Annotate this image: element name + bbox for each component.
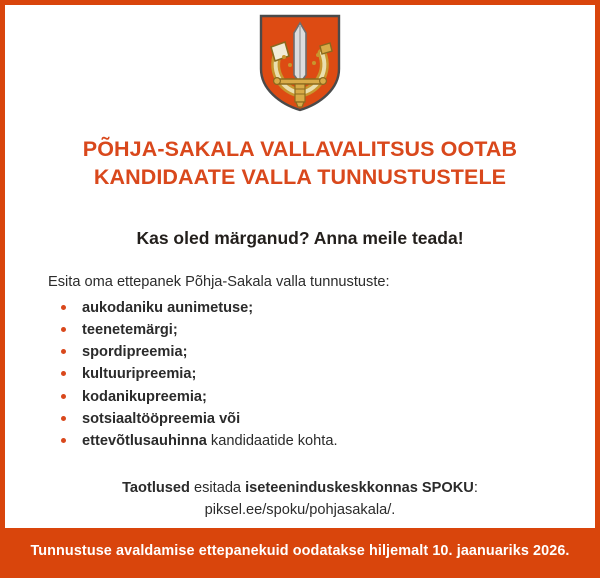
list-item: spordipreemia; (48, 341, 565, 363)
list-item-label: kodanikupreemia; (82, 389, 207, 405)
deadline-footer: Tunnustuse avaldamise ettepanekuid oodat… (5, 528, 595, 573)
list-item-label: ettevõtlusauhinna (82, 433, 207, 449)
list-item-label: sotsiaaltööpreemia või (82, 411, 240, 427)
subtitle: Kas oled märganud? Anna meile teada! (136, 228, 463, 249)
poster-content: PÕHJA-SAKALA VALLAVALITSUS OOTAB KANDIDA… (5, 5, 595, 528)
page-title-line-2: KANDIDAATE VALLA TUNNUSTUSTELE (83, 163, 517, 191)
list-item-label: kultuuripreemia; (82, 366, 196, 382)
page-title: PÕHJA-SAKALA VALLAVALITSUS OOTAB KANDIDA… (65, 135, 535, 192)
apply-url[interactable]: piksel.ee/spoku/pohjasakala/. (122, 500, 478, 522)
bullet-dot-icon (61, 416, 66, 421)
list-item: kultuuripreemia; (48, 363, 565, 385)
list-item-label: spordipreemia; (82, 344, 187, 360)
page-title-line-1: PÕHJA-SAKALA VALLAVALITSUS OOTAB (83, 135, 517, 163)
deadline-text: Tunnustuse avaldamise ettepanekuid oodat… (30, 543, 569, 559)
apply-portal-name: iseteeninduskeskkonnas SPOKU (245, 480, 474, 496)
body-block: Esita oma ettepanek Põhja-Sakala valla t… (5, 273, 595, 452)
lead-paragraph: Esita oma ettepanek Põhja-Sakala valla t… (48, 273, 565, 293)
award-list: aukodaniku aunimetuse; teenetemärgi; spo… (48, 297, 565, 452)
list-item: kodanikupreemia; (48, 386, 565, 408)
list-item: aukodaniku aunimetuse; (48, 297, 565, 319)
list-item-label: aukodaniku aunimetuse; (82, 300, 253, 316)
bullet-dot-icon (61, 305, 66, 310)
list-item-label: teenetemärgi; (82, 322, 178, 338)
apply-connector: esitada (190, 480, 245, 496)
list-item-tail: kandidaatide kohta. (207, 433, 338, 449)
bullet-dot-icon (61, 394, 66, 399)
bullet-dot-icon (61, 371, 66, 376)
apply-keyword: Taotlused (122, 480, 190, 496)
bullet-dot-icon (61, 327, 66, 332)
list-item: ettevõtlusauhinna kandidaatide kohta. (48, 430, 565, 452)
bullet-dot-icon (61, 349, 66, 354)
list-item: teenetemärgi; (48, 319, 565, 341)
announcement-poster: PÕHJA-SAKALA VALLAVALITSUS OOTAB KANDIDA… (0, 0, 600, 578)
bullet-dot-icon (61, 438, 66, 443)
apply-instructions: Taotlused esitada iseteeninduskeskkonnas… (102, 478, 498, 522)
list-item: sotsiaaltööpreemia või (48, 408, 565, 430)
apply-colon: : (474, 480, 478, 496)
coat-of-arms-icon (258, 13, 342, 113)
